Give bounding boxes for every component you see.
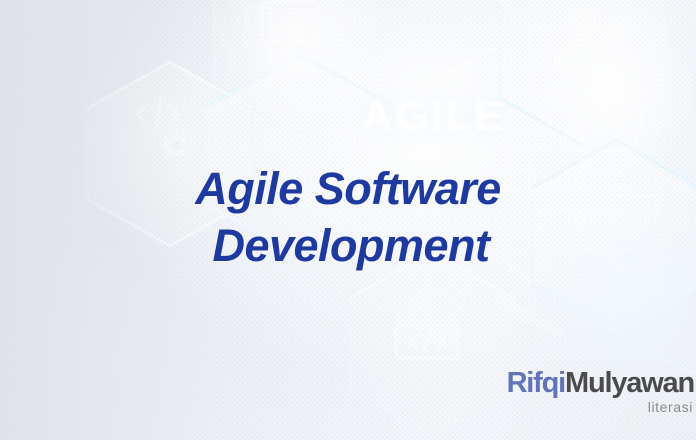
agile-watermark-text: AGILE [362, 92, 505, 140]
logo-wordmark: RifqiMulyawan [507, 369, 694, 398]
logo-first-word: Rifqi [507, 367, 565, 399]
logo-tagline: literasi [507, 400, 693, 414]
featured-image-banner: AGILE Agile Software Development RifqiMu… [0, 0, 696, 440]
page-title: Agile Software Development [0, 160, 696, 274]
brand-logo: RifqiMulyawan literasi [507, 369, 694, 414]
logo-second-word: Mulyawan [565, 367, 694, 399]
title-line-1: Agile Software [0, 160, 696, 217]
title-line-2: Development [6, 217, 696, 274]
